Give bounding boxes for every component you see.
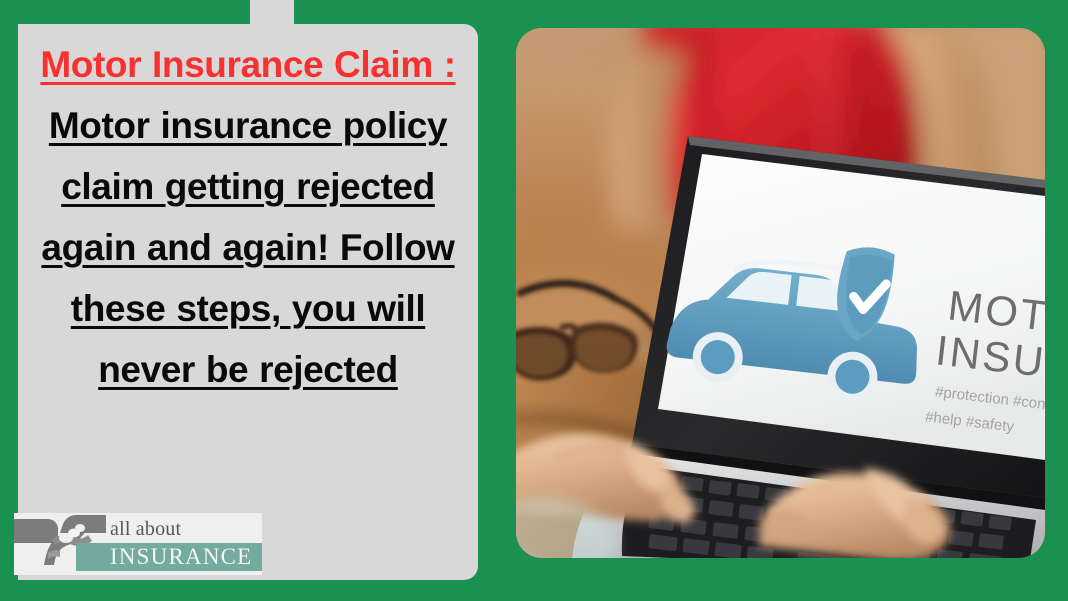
page-title: Motor Insurance Claim : Motor insurance … <box>32 34 464 400</box>
site-logo[interactable]: all about INSURANCE <box>14 513 262 575</box>
photo-illustration: MOTOR INSURANCE #protection #confidence … <box>516 28 1045 558</box>
left-text-panel: Motor Insurance Claim : Motor insurance … <box>18 24 478 580</box>
logo-wordmark: all about INSURANCE <box>106 513 262 575</box>
page-title-black: Motor insurance policy claim getting rej… <box>41 105 454 390</box>
logo-line-2: INSURANCE <box>110 544 252 570</box>
hero-photo: MOTOR INSURANCE #protection #confidence … <box>516 28 1045 558</box>
page-title-red: Motor Insurance Claim : <box>40 44 455 85</box>
logo-line-1: all about <box>110 518 181 541</box>
panel-top-notch <box>250 0 294 26</box>
